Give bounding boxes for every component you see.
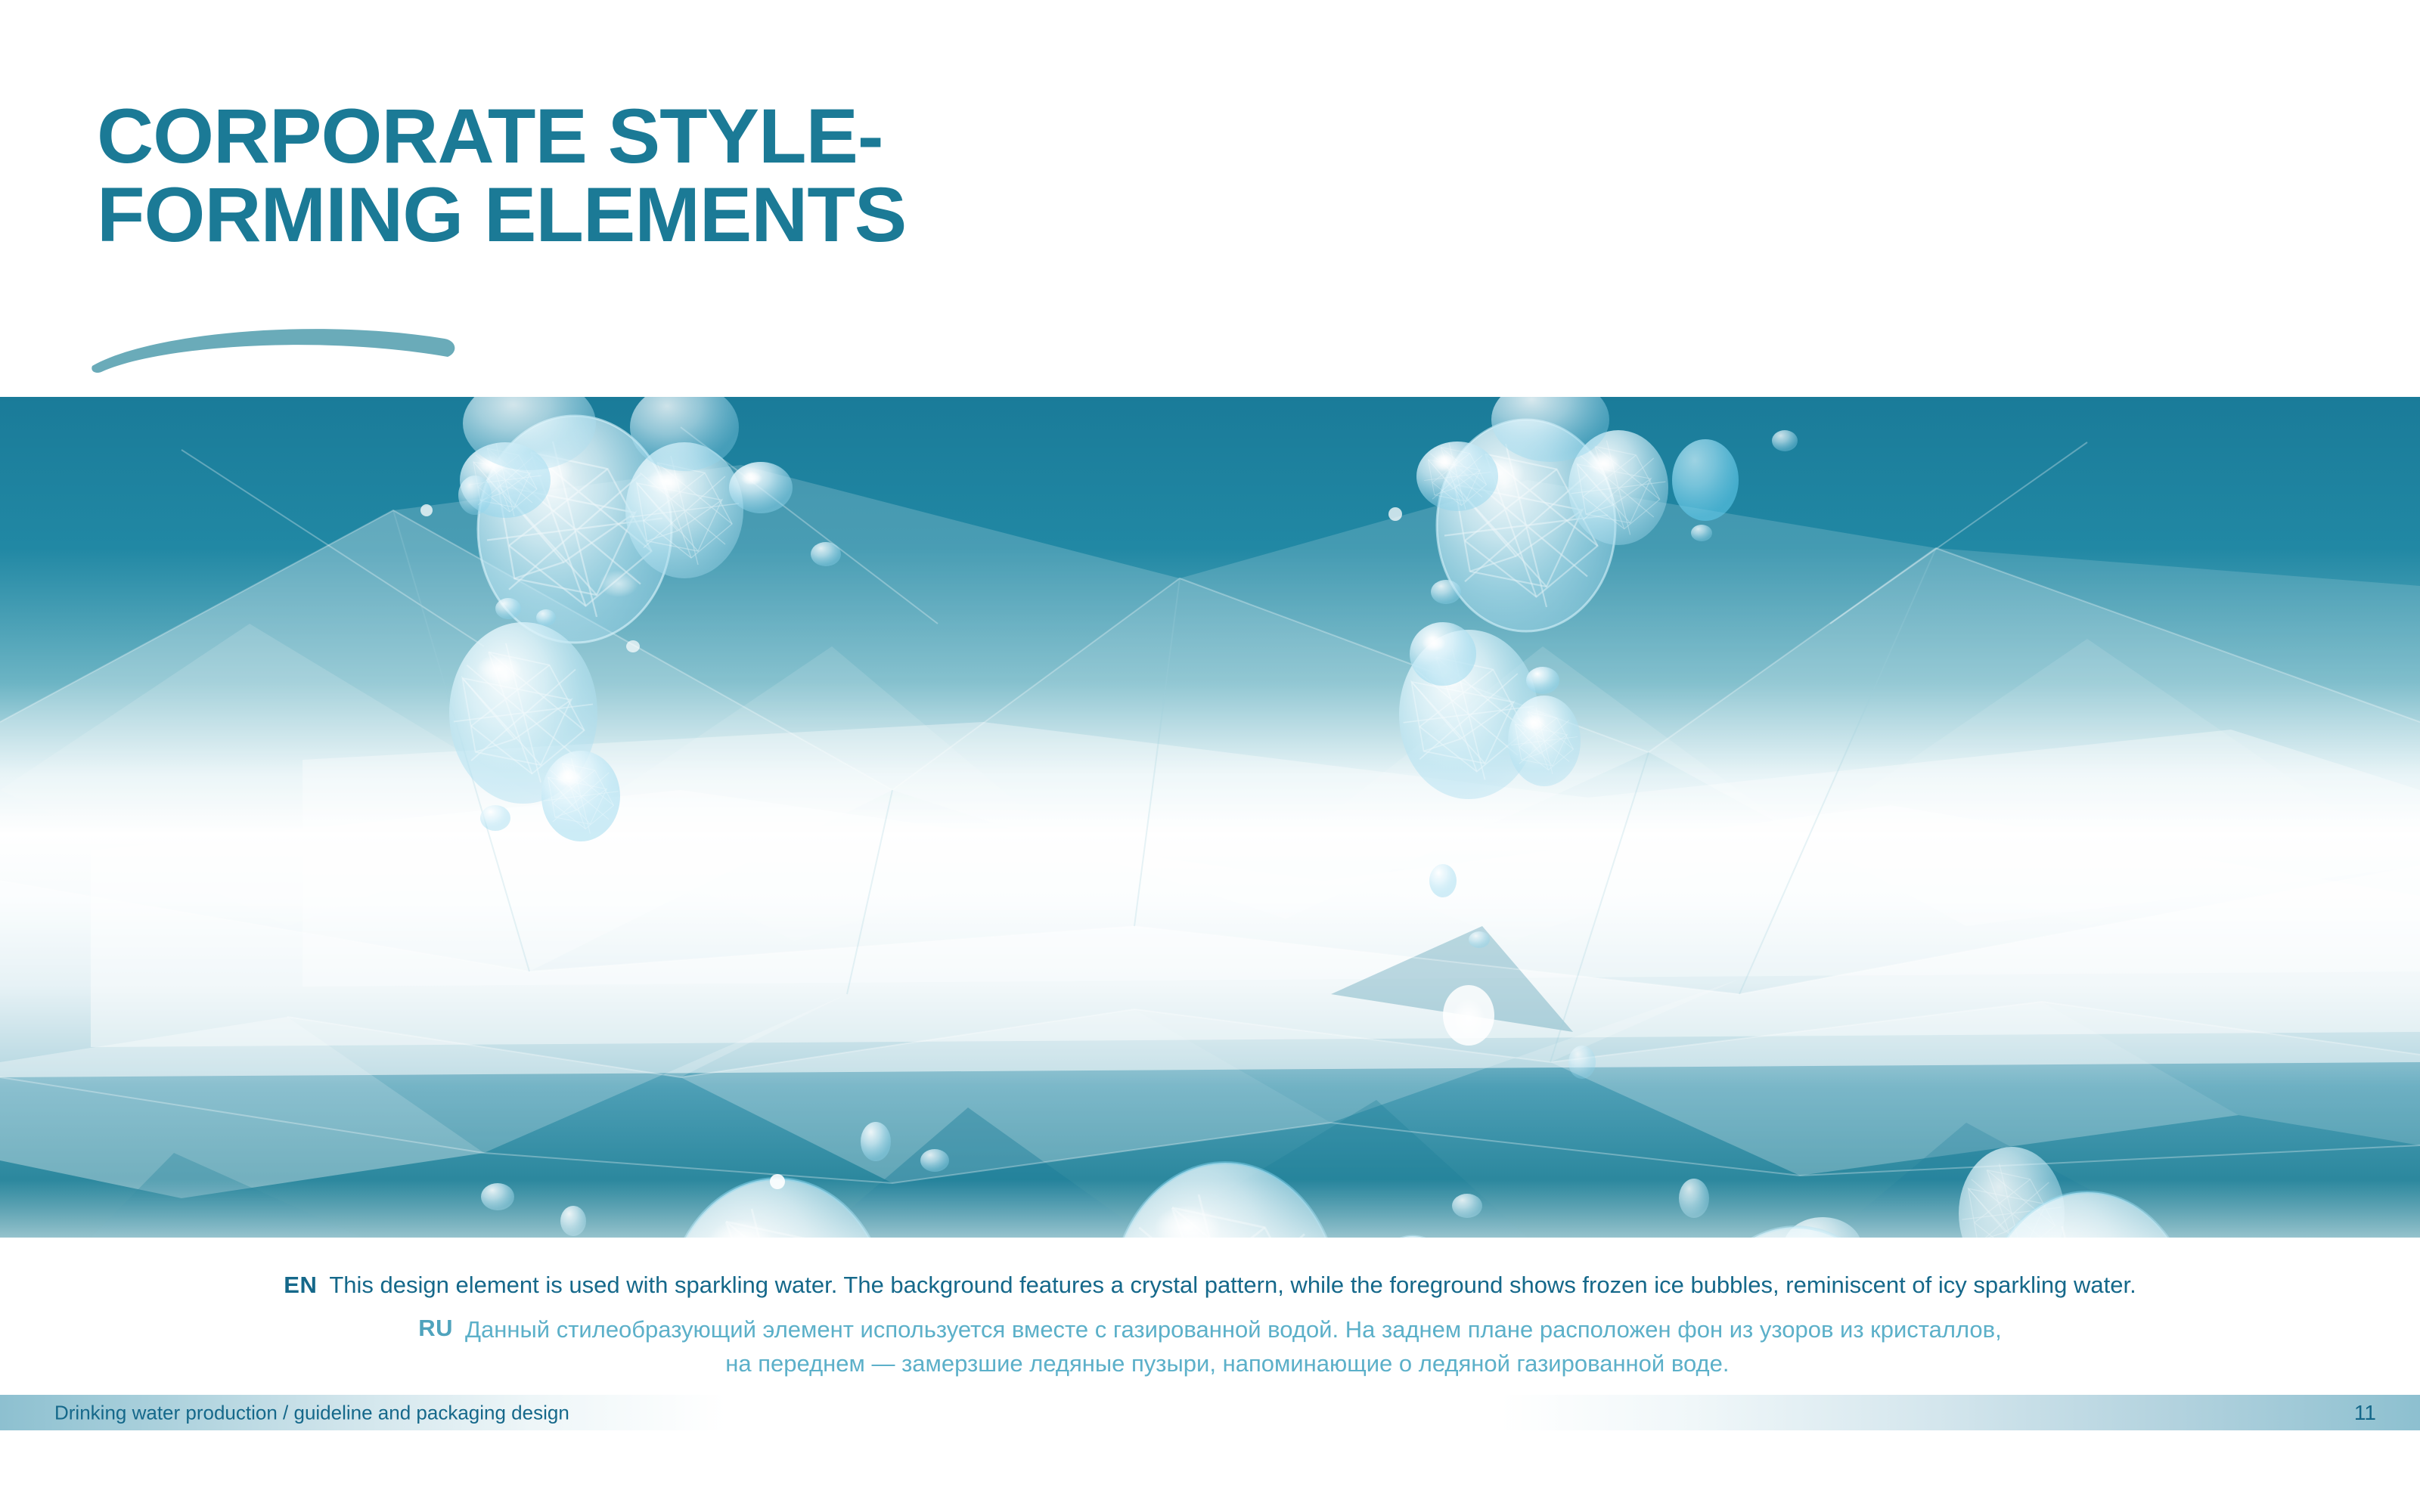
caption-row-en: EN This design element is used with spar… xyxy=(0,1270,2420,1301)
lang-label-ru: RU xyxy=(418,1315,453,1342)
slide-root: CORPORATE STYLE- FORMING ELEMENTS xyxy=(0,0,2420,1512)
page-title: CORPORATE STYLE- FORMING ELEMENTS xyxy=(97,97,1609,254)
caption-row-ru: RU Данный стилеобразующий элемент исполь… xyxy=(0,1315,2420,1380)
page-title-line-2: FORMING ELEMENTS xyxy=(97,175,1640,254)
page-number: 11 xyxy=(2354,1401,2376,1425)
lang-label-en: EN xyxy=(284,1272,317,1299)
caption-text-en: This design element is used with sparkli… xyxy=(329,1270,2136,1301)
footer-title: Drinking water production / guideline an… xyxy=(54,1401,569,1424)
caption-text-ru-line-1: Данный стилеобразующий элемент используе… xyxy=(465,1316,2002,1343)
page-title-line-1: CORPORATE STYLE- xyxy=(97,97,1640,175)
hero-crystal-bubbles-graphic xyxy=(0,397,2420,1238)
caption-text-ru: Данный стилеобразующий элемент используе… xyxy=(453,1315,2002,1380)
footer-bar: Drinking water production / guideline an… xyxy=(0,1395,2420,1430)
caption-text-ru-line-2: на переднем — замерзшие ледяные пузыри, … xyxy=(453,1349,2002,1380)
hero-image xyxy=(0,397,2420,1238)
caption-block: EN This design element is used with spar… xyxy=(0,1270,2420,1380)
swoosh-accent-icon xyxy=(89,296,460,375)
